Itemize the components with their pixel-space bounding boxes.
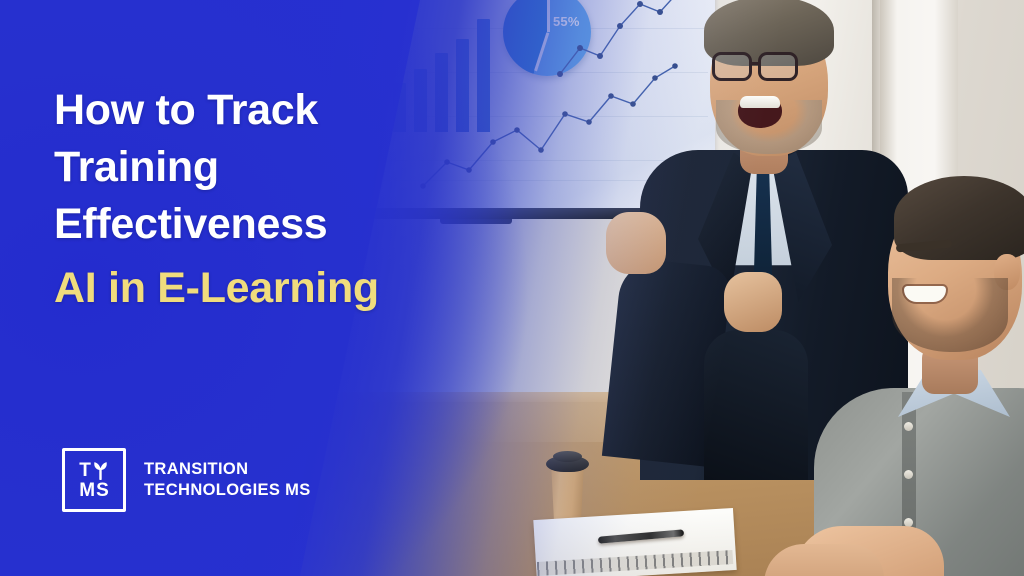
logo-letter-m: M	[79, 481, 95, 500]
banner-image: 55%	[0, 0, 1024, 576]
headline-line-1: How to Track	[54, 82, 379, 139]
logo-letter-s: S	[96, 481, 109, 500]
headline-line-2: Training	[54, 139, 379, 196]
logo-wordmark: TRANSITION TECHNOLOGIES MS	[144, 459, 311, 501]
subheadline: AI in E-Learning	[54, 260, 379, 317]
headline-line-3: Effectiveness	[54, 196, 379, 253]
logo-mark-row-top: T	[79, 461, 109, 480]
logo-letter-t: T	[79, 461, 91, 480]
logo-mark-box: T M S	[62, 448, 126, 512]
sprout-icon	[92, 461, 109, 480]
logo-name-line-1: TRANSITION	[144, 459, 311, 480]
logo-name-line-2: TECHNOLOGIES MS	[144, 480, 311, 501]
page-title: How to Track Training Effectiveness AI i…	[54, 82, 379, 317]
logo-mark-row-bottom: M S	[79, 481, 109, 500]
company-logo[interactable]: T M S TRANSITION TECHNOLOGIES MS	[62, 448, 311, 512]
banner-content: How to Track Training Effectiveness AI i…	[0, 0, 1024, 576]
